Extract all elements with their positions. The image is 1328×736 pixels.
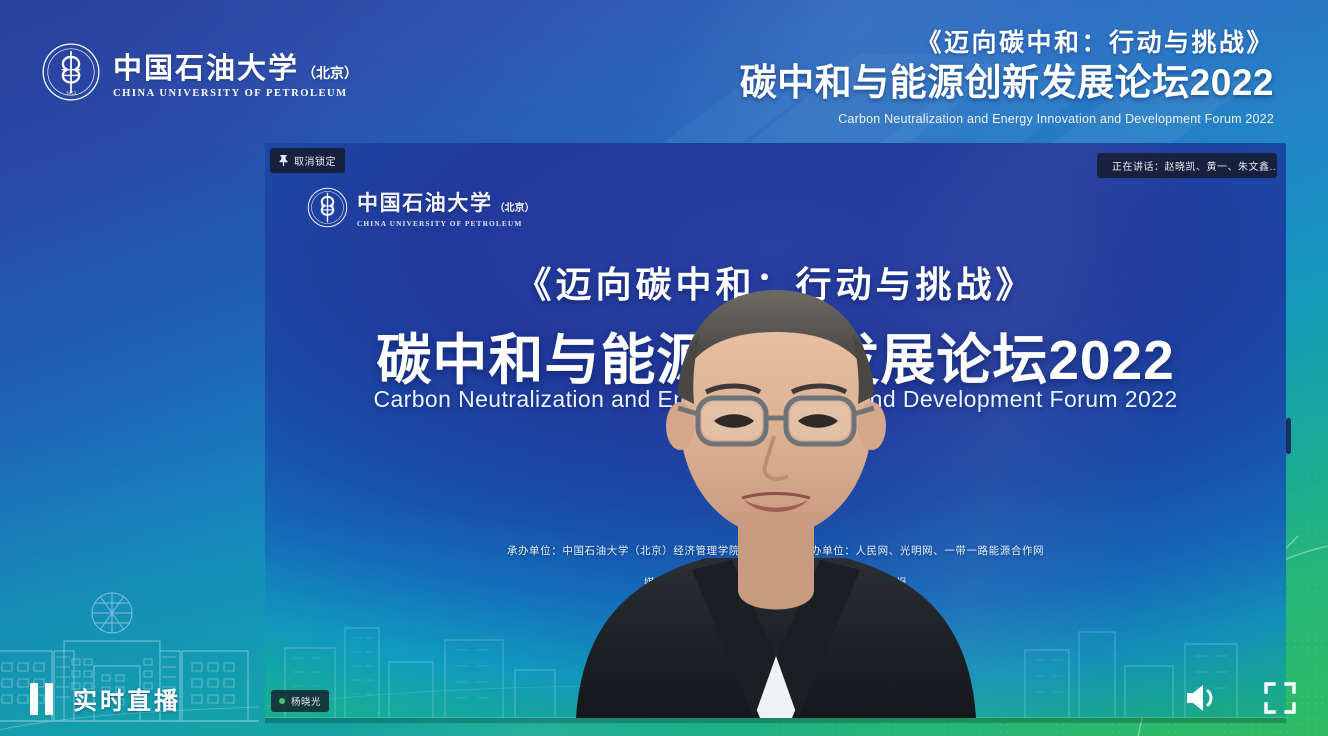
live-stream-indicator[interactable]: 实时直播: [30, 681, 181, 716]
pause-icon[interactable]: [30, 683, 53, 715]
forum-title-en: Carbon Neutralization and Energy Innovat…: [740, 112, 1274, 126]
university-name-cn-paren: （北京）: [302, 63, 358, 87]
slide-university-name-cn-paren: （北京）: [495, 199, 535, 217]
slide-university-logo: 中国石油大学 （北京） CHINA UNIVERSITY OF PETROLEU…: [307, 187, 535, 228]
slide-logo-text: 中国石油大学 （北京） CHINA UNIVERSITY OF PETROLEU…: [357, 187, 535, 228]
presenter-video-feed: [546, 288, 1006, 718]
slide-university-name-cn-main: 中国石油大学: [357, 187, 493, 217]
forum-title-block: 《迈向碳中和：行动与挑战》 碳中和与能源创新发展论坛2022 Carbon Ne…: [740, 28, 1274, 126]
video-player-stage[interactable]: 中国石油大学 （北京） CHINA UNIVERSITY OF PETROLEU…: [265, 143, 1286, 718]
video-lock-chip-label: 取消锁定: [294, 153, 336, 168]
university-name-cn-main: 中国石油大学: [113, 45, 299, 87]
university-seal-icon: 1953: [42, 43, 100, 101]
pause-bar-left: [30, 683, 38, 715]
fullscreen-button[interactable]: [1260, 678, 1300, 718]
slide-university-seal-icon: [307, 187, 348, 228]
video-lock-chip[interactable]: 取消锁定: [270, 148, 345, 173]
university-name-cn: 中国石油大学 （北京）: [113, 45, 358, 87]
forum-subtitle-cn: 《迈向碳中和：行动与挑战》: [740, 28, 1274, 59]
video-speaker-chip-label: 正在讲话：赵晓凯、黄一、朱文鑫...: [1112, 158, 1277, 173]
fullscreen-icon: [1263, 681, 1297, 715]
player-controls[interactable]: [1182, 678, 1300, 718]
forum-title-cn: 碳中和与能源创新发展论坛2022: [740, 61, 1274, 105]
pause-bar-right: [45, 683, 53, 715]
pin-icon: [279, 155, 288, 166]
volume-button[interactable]: [1182, 678, 1222, 718]
university-logo: 1953 中国石油大学 （北京） CHINA UNIVERSITY OF PET…: [42, 43, 358, 101]
video-letterbox: [265, 718, 1286, 723]
university-logo-text: 中国石油大学 （北京） CHINA UNIVERSITY OF PETROLEU…: [113, 45, 358, 99]
speaking-status-icon: [279, 698, 285, 704]
video-participant-name-chip[interactable]: 杨晓光: [271, 690, 329, 712]
live-stream-label: 实时直播: [73, 681, 181, 716]
slide-university-name-cn: 中国石油大学 （北京）: [357, 187, 535, 217]
video-speaker-chip[interactable]: 正在讲话：赵晓凯、黄一、朱文鑫...: [1097, 153, 1277, 178]
university-name-en: CHINA UNIVERSITY OF PETROLEUM: [113, 88, 358, 99]
svg-text:1953: 1953: [66, 91, 77, 96]
volume-icon: [1183, 681, 1221, 715]
video-participant-name-label: 杨晓光: [291, 694, 321, 708]
slide-university-name-en: CHINA UNIVERSITY OF PETROLEUM: [357, 219, 535, 228]
video-scroll-handle[interactable]: [1286, 418, 1291, 454]
page-header: 1953 中国石油大学 （北京） CHINA UNIVERSITY OF PET…: [0, 0, 1328, 145]
